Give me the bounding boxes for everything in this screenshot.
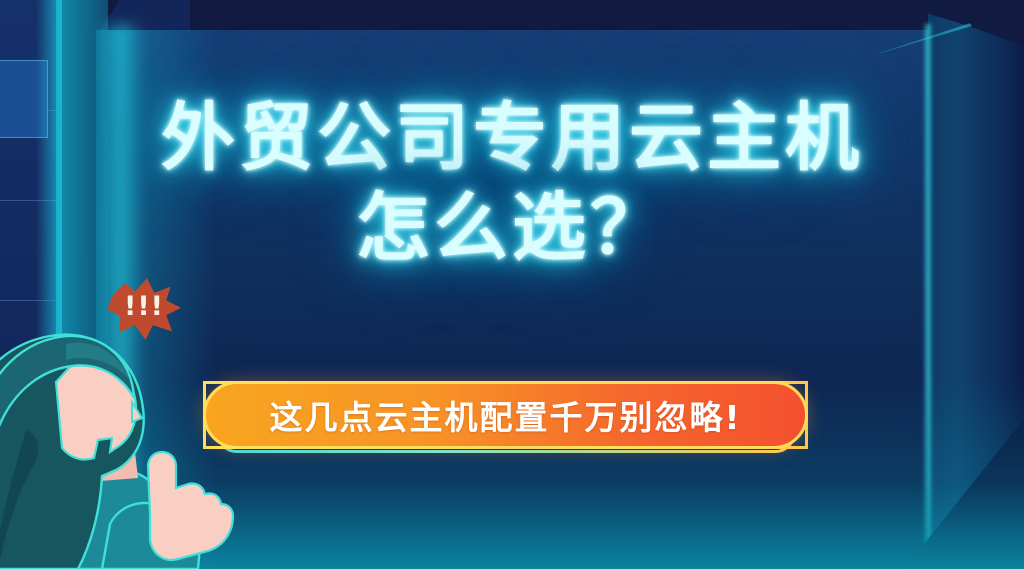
cta-banner[interactable]: 这几点云主机配置千万别忽略! <box>203 381 808 467</box>
headline-line-1: 外贸公司专用云主机 <box>161 95 863 181</box>
headline: 外贸公司专用云主机 怎么选？ <box>0 96 1024 270</box>
burst-label: !!! <box>124 291 164 322</box>
woman-illustration <box>0 318 282 569</box>
poster-canvas: 外贸公司专用云主机 怎么选？ 这几点云主机配置千万别忽略! !!! <box>0 0 1024 569</box>
headline-line-2: 怎么选？ <box>0 186 1024 270</box>
hand-shape <box>148 452 233 560</box>
cta-pill[interactable]: 这几点云主机配置千万别忽略! <box>203 381 808 449</box>
cta-label: 这几点云主机配置千万别忽略! <box>269 391 741 439</box>
